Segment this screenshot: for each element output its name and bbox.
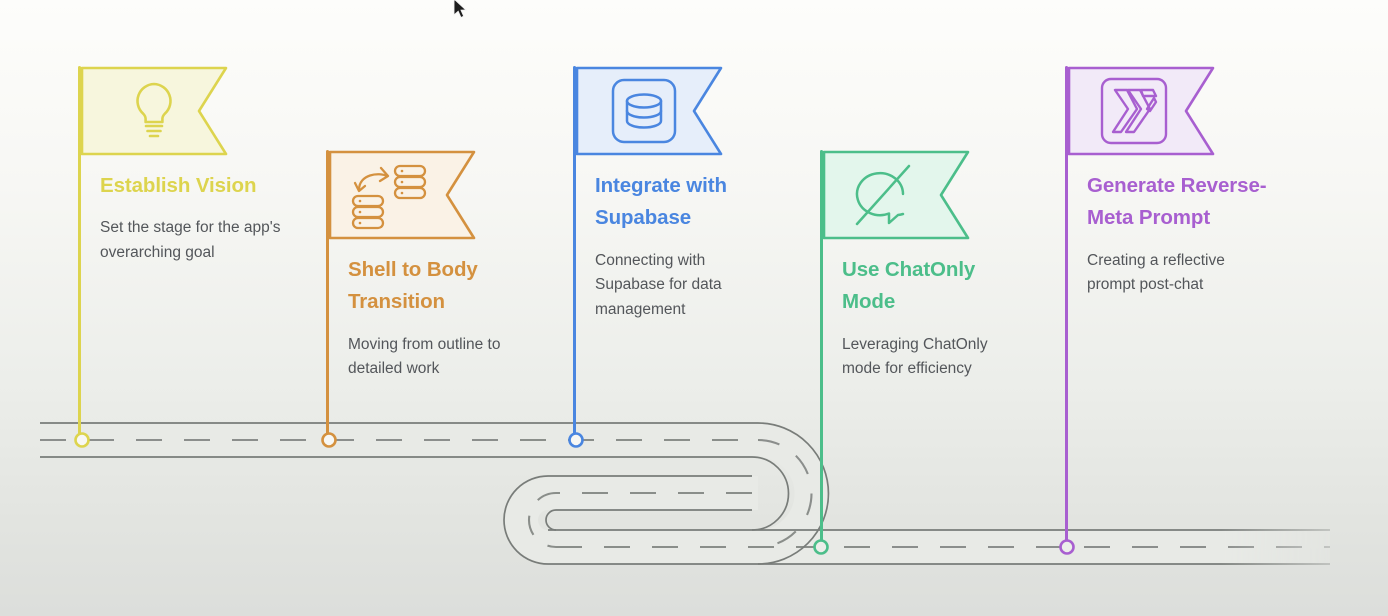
marker-establish-vision	[76, 434, 89, 447]
marker-generate-reverse-meta-prompt	[1061, 541, 1074, 554]
marker-shell-to-body-transition	[323, 434, 336, 447]
milestone-road-markers	[0, 0, 1388, 616]
marker-use-chatonly-mode	[815, 541, 828, 554]
roadmap-diagram: Establish Vision Set the stage for the a…	[0, 0, 1388, 616]
marker-integrate-with-supabase	[570, 434, 583, 447]
